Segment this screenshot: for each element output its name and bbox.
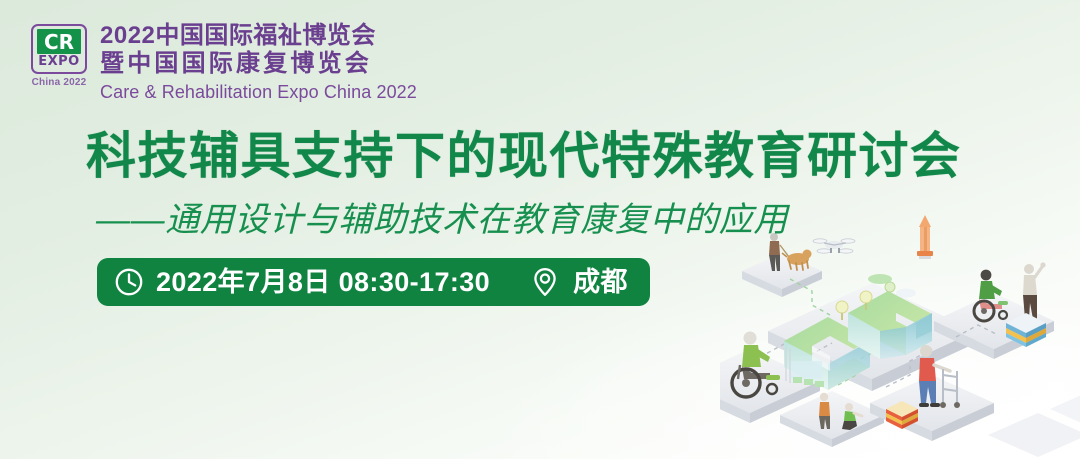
drone-icon: [813, 239, 855, 253]
tower-landmark-icon: [917, 215, 933, 259]
expo-name-line-2: 暨中国国际康复博览会: [100, 50, 417, 78]
cr-logo-expo-text: EXPO: [38, 54, 79, 71]
cr-logo-green-block: CR: [37, 29, 81, 54]
cr-logo-china-year: China 2022: [32, 77, 87, 88]
expo-logo-block: CR EXPO China 2022 2022中国国际福祉博览会 暨中国国际康复…: [30, 24, 417, 104]
cr-logo-border: CR EXPO: [31, 24, 87, 74]
seminar-sub-title: ——通用设计与辅助技术在教育康复中的应用: [96, 203, 788, 237]
expo-header-text: 2022中国国际福祉博览会 暨中国国际康复博览会 Care & Rehabili…: [100, 22, 417, 104]
event-info-bar: 2022年7月8日 08:30-17:30 成都: [97, 258, 650, 306]
attendant-person-icon: [1023, 262, 1046, 319]
cr-logo-letters: CR: [44, 32, 74, 52]
isometric-accessibility-city-illustration: [720, 209, 1080, 459]
event-banner: CR EXPO China 2022 2022中国国际福祉博览会 暨中国国际康复…: [0, 0, 1080, 459]
seminar-main-title: 科技辅具支持下的现代特殊教育研讨会: [86, 131, 962, 181]
event-datetime: 2022年7月8日 08:30-17:30: [156, 269, 490, 296]
expo-name-english: Care & Rehabilitation Expo China 2022: [100, 80, 417, 104]
event-city: 成都: [573, 269, 628, 296]
location-pin-icon: [530, 266, 560, 298]
clock-icon: [114, 267, 144, 297]
cr-expo-logo-mark: CR EXPO China 2022: [30, 24, 88, 88]
expo-name-line-1: 2022中国国际福祉博览会: [100, 22, 417, 50]
